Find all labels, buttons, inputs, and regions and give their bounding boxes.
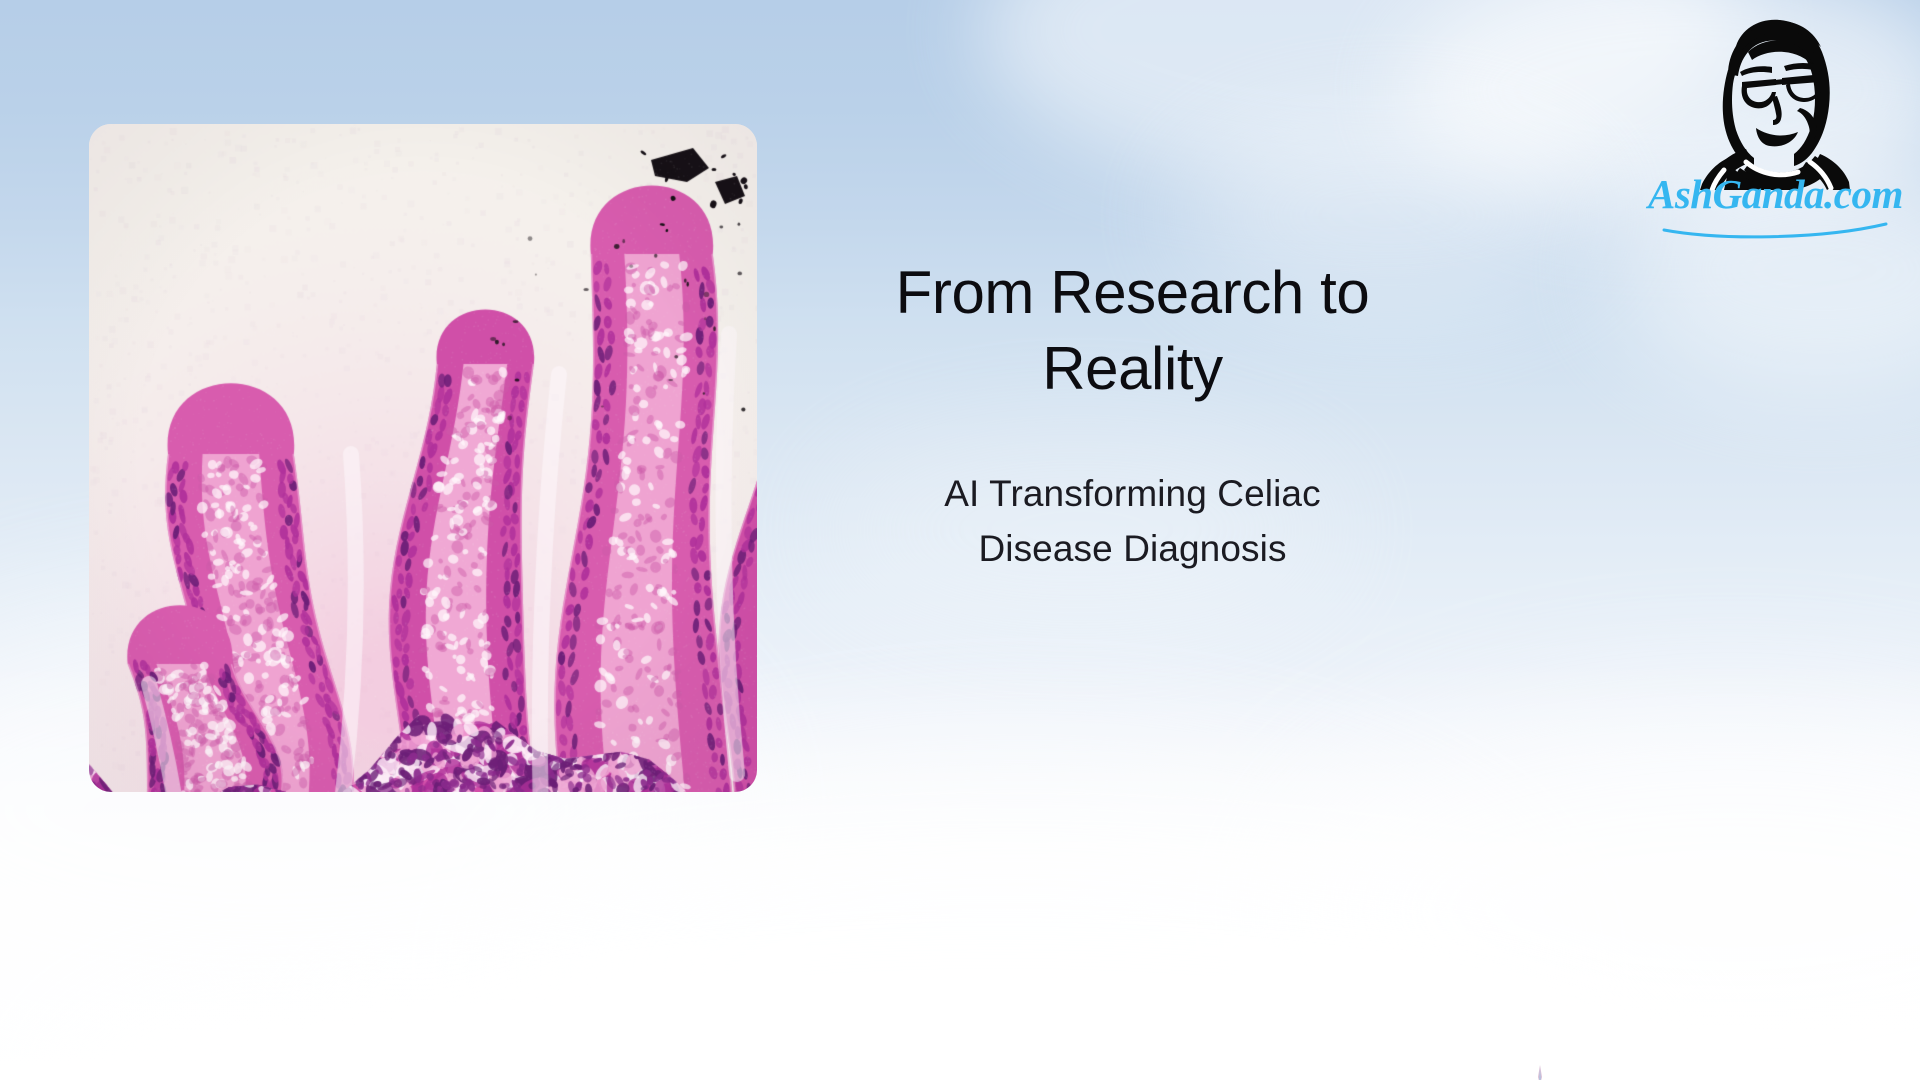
- page-title: From Research to Reality: [860, 255, 1405, 407]
- celiac-histology-image: [89, 124, 757, 792]
- slide-canvas: From Research to Reality AI Transforming…: [0, 0, 1920, 1080]
- portrait-icon: [1684, 12, 1862, 190]
- histology-image-card: [89, 124, 757, 792]
- wordmark-underline-swash: [1648, 170, 1898, 244]
- brand-wordmark: AshGanda.com: [1648, 170, 1898, 244]
- bottom-edge-mark: [1533, 1063, 1547, 1080]
- text-column: From Research to Reality AI Transforming…: [860, 255, 1405, 577]
- page-subtitle: AI Transforming Celiac Disease Diagnosis: [860, 467, 1405, 577]
- brand-logo[interactable]: AshGanda.com: [1648, 12, 1898, 244]
